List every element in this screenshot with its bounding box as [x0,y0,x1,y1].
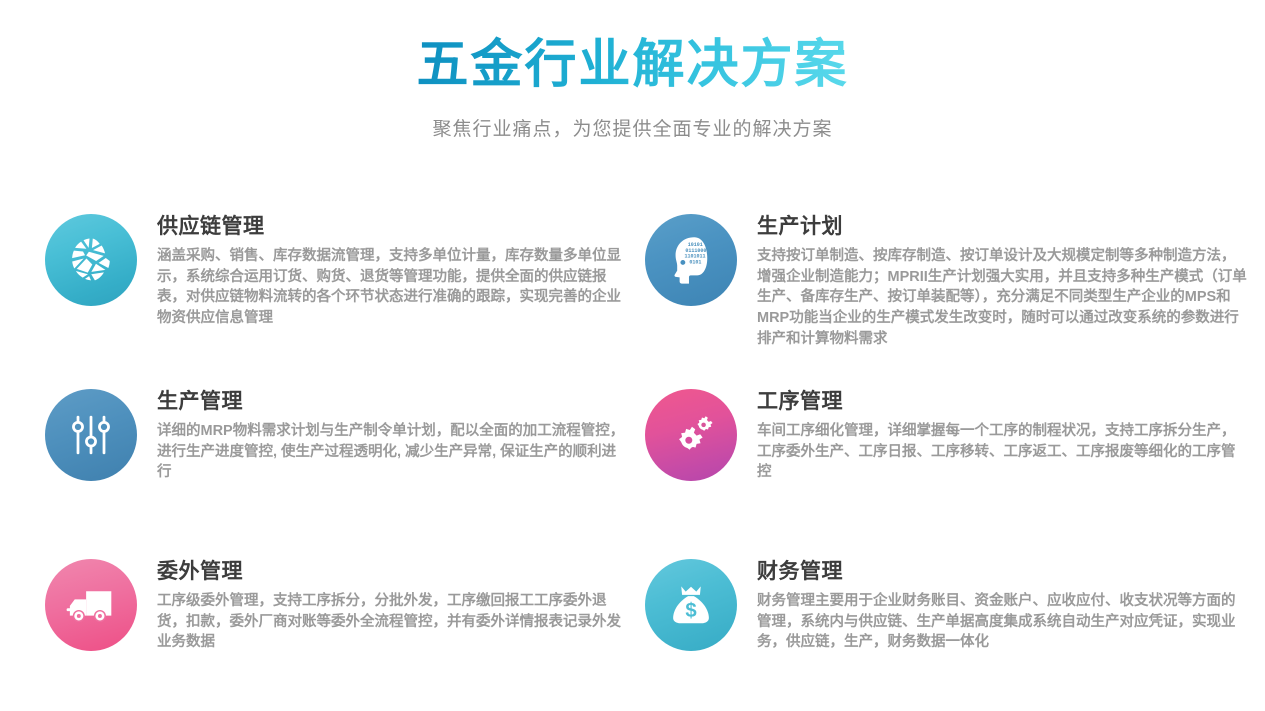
head-binary-brain-icon: 10101 0111000 1101011 0101 [645,214,737,306]
feature-card-finance-management[interactable]: $ 财务管理 财务管理主要用于企业财务账目、资金账户、应收应付、收支状况等方面的… [645,541,1265,711]
feature-card-production-plan[interactable]: 10101 0111000 1101011 0101 生产计划 支持按订单制造、… [645,196,1265,371]
feature-card-supply-chain-management[interactable]: 供应链管理 涵盖采购、销售、库存数据流管理，支持多单位计量，库存数量多单位显示，… [45,196,645,371]
card-description: 车间工序细化管理，详细掌握每一个工序的制程状况，支持工序拆分生产，工序委外生产、… [757,421,1247,483]
globe-network-icon [45,214,137,306]
feature-card-outsourcing-management[interactable]: 委外管理 工序级委外管理，支持工序拆分，分批外发，工序缴回报工工序委外退货，扣款… [45,541,645,711]
card-body: 生产管理 详细的MRP物料需求计划与生产制令单计划，配以全面的加工流程管控，进行… [137,371,645,483]
card-body: 财务管理 财务管理主要用于企业财务账目、资金账户、应收应付、收支状况等方面的管理… [737,541,1265,653]
svg-text:$: $ [685,600,696,622]
feature-card-production-management[interactable]: 生产管理 详细的MRP物料需求计划与生产制令单计划，配以全面的加工流程管控，进行… [45,371,645,541]
card-description: 涵盖采购、销售、库存数据流管理，支持多单位计量，库存数量多单位显示，系统综合运用… [157,246,627,328]
svg-text:0101: 0101 [689,259,701,265]
card-title: 工序管理 [757,389,1265,414]
card-description: 详细的MRP物料需求计划与生产制令单计划，配以全面的加工流程管控，进行生产进度管… [157,421,627,483]
delivery-truck-icon [45,559,137,651]
feature-card-grid: 供应链管理 涵盖采购、销售、库存数据流管理，支持多单位计量，库存数量多单位显示，… [0,196,1265,711]
card-title: 财务管理 [757,559,1265,584]
equalizer-sliders-icon [45,389,137,481]
card-title: 委外管理 [157,559,645,584]
card-title: 供应链管理 [157,214,645,239]
page-header: 五金行业解决方案 聚焦行业痛点，为您提供全面专业的解决方案 [0,0,1265,141]
card-body: 工序管理 车间工序细化管理，详细掌握每一个工序的制程状况，支持工序拆分生产，工序… [737,371,1265,483]
card-description: 支持按订单制造、按库存制造、按订单设计及大规模定制等多种制造方法，增强企业制造能… [757,246,1247,349]
page-title: 五金行业解决方案 [416,36,848,96]
card-description: 财务管理主要用于企业财务账目、资金账户、应收应付、收支状况等方面的管理，系统内与… [757,591,1247,653]
card-body: 委外管理 工序级委外管理，支持工序拆分，分批外发，工序缴回报工工序委外退货，扣款… [137,541,645,653]
card-description: 工序级委外管理，支持工序拆分，分批外发，工序缴回报工工序委外退货，扣款，委外厂商… [157,591,627,653]
card-body: 供应链管理 涵盖采购、销售、库存数据流管理，支持多单位计量，库存数量多单位显示，… [137,196,645,329]
card-body: 生产计划 支持按订单制造、按库存制造、按订单设计及大规模定制等多种制造方法，增强… [737,196,1265,349]
gears-icon [645,389,737,481]
feature-card-process-management[interactable]: 工序管理 车间工序细化管理，详细掌握每一个工序的制程状况，支持工序拆分生产，工序… [645,371,1265,541]
money-bag-icon: $ [645,559,737,651]
card-title: 生产计划 [757,214,1265,239]
page-subtitle: 聚焦行业痛点，为您提供全面专业的解决方案 [0,114,1265,141]
card-title: 生产管理 [157,389,645,414]
